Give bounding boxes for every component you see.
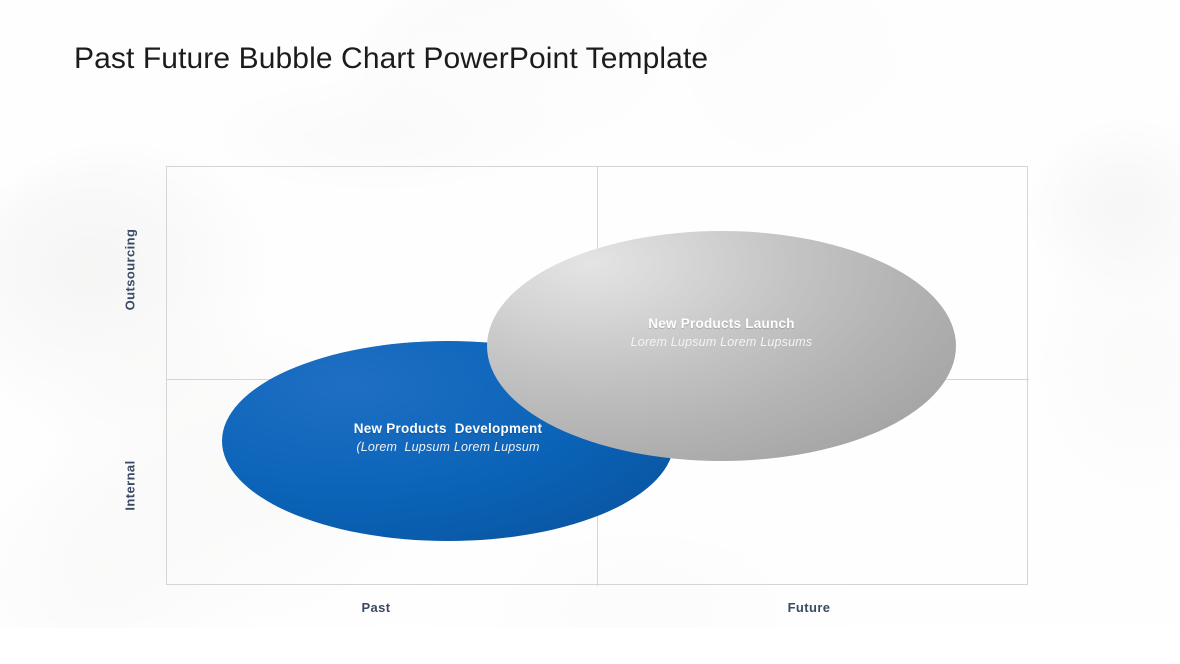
bubble-new-products-launch[interactable]: New Products Launch Lorem Lupsum Lorem L…	[487, 231, 956, 461]
background-blob	[1030, 120, 1180, 310]
y-axis-label-top: Outsourcing	[123, 200, 138, 340]
background-bottom-band	[0, 628, 1180, 664]
x-axis-label-left: Past	[296, 600, 456, 615]
background-blob	[1010, 250, 1180, 530]
slide-canvas: Past Future Bubble Chart PowerPoint Temp…	[0, 0, 1180, 664]
page-title: Past Future Bubble Chart PowerPoint Temp…	[74, 40, 708, 78]
y-axis-label-bottom: Internal	[123, 429, 138, 543]
bubble-subtitle: Lorem Lupsum Lorem Lupsums	[487, 333, 956, 351]
x-axis-label-right: Future	[729, 600, 889, 615]
bubble-label-group: New Products Launch Lorem Lupsum Lorem L…	[487, 314, 956, 351]
background-blob	[690, 0, 910, 170]
bubble-title: New Products Launch	[487, 314, 956, 333]
